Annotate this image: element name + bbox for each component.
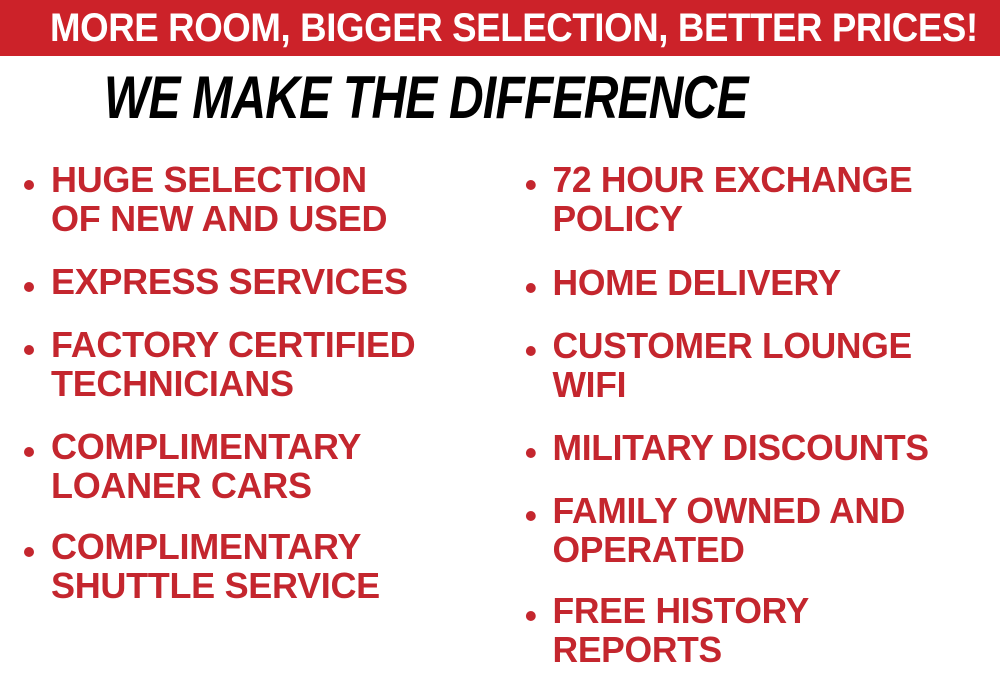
- list-item: MILITARY DISCOUNTS: [520, 428, 993, 467]
- benefits-list-right: 72 HOUR EXCHANGE POLICY HOME DELIVERY CU…: [520, 160, 1000, 669]
- list-item: FACTORY CERTIFIED TECHNICIANS: [18, 325, 508, 403]
- list-item: CUSTOMER LOUNGE WIFI: [520, 326, 993, 404]
- promotional-poster: MORE ROOM, BIGGER SELECTION, BETTER PRIC…: [0, 0, 1000, 694]
- list-item: COMPLIMENTARY SHUTTLE SERVICE: [18, 527, 508, 605]
- benefits-list-left: HUGE SELECTION OF NEW AND USED EXPRESS S…: [18, 160, 508, 605]
- list-item: EXPRESS SERVICES: [18, 262, 508, 301]
- list-item: 72 HOUR EXCHANGE POLICY: [520, 160, 993, 238]
- list-item: HOME DELIVERY: [520, 263, 993, 302]
- top-banner: MORE ROOM, BIGGER SELECTION, BETTER PRIC…: [0, 0, 1000, 56]
- list-item: FREE HISTORY REPORTS: [520, 591, 993, 669]
- list-item: COMPLIMENTARY LOANER CARS: [18, 427, 508, 505]
- list-item: HUGE SELECTION OF NEW AND USED: [18, 160, 508, 238]
- banner-headline-text: MORE ROOM, BIGGER SELECTION, BETTER PRIC…: [50, 8, 978, 48]
- list-item: FAMILY OWNED AND OPERATED: [520, 491, 993, 569]
- page-title: WE MAKE THE DIFFERENCE: [104, 68, 904, 130]
- page-title-text: WE MAKE THE DIFFERENCE: [104, 68, 748, 128]
